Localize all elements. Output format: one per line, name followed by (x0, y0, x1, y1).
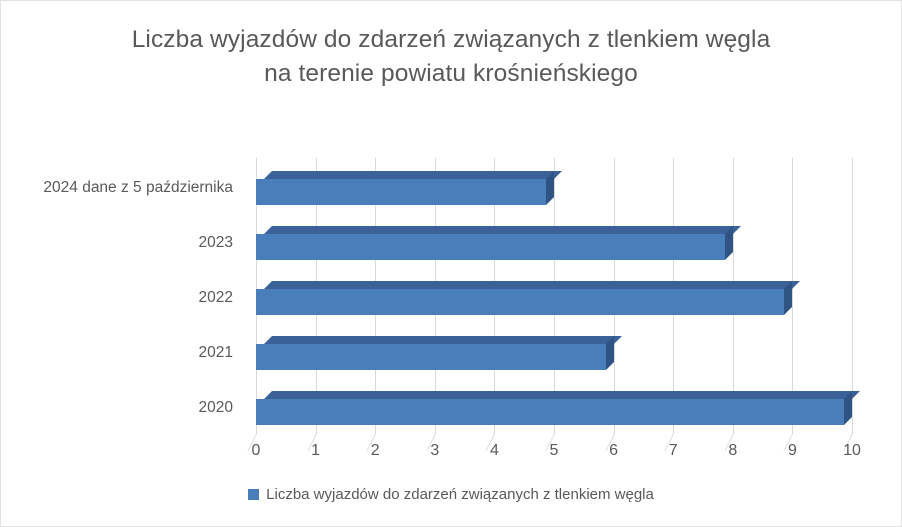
x-axis-tick-label-1: 1 (311, 442, 320, 460)
chart-legend: Liczba wyjazdów do zdarzeń związanych z … (1, 486, 901, 503)
bar-top-face (264, 281, 800, 289)
x-axis-tick-label-0: 0 (252, 442, 261, 460)
bar-side-face (784, 281, 792, 315)
bar-side-face (606, 336, 614, 370)
y-axis-label-2024: 2024 dane z 5 października (43, 179, 233, 197)
legend-entry-label: Liczba wyjazdów do zdarzeń związanych z … (266, 486, 654, 503)
y-axis-category-labels: 20202021202220232024 dane z 5 październi… (1, 158, 241, 434)
x-axis-tick-label-2: 2 (371, 442, 380, 460)
x-axis-tick-label-7: 7 (669, 442, 678, 460)
bar-top-face (264, 171, 562, 179)
bar-2021[interactable] (256, 336, 614, 370)
x-axis-tick-label-5: 5 (550, 442, 559, 460)
x-axis-tick-label-8: 8 (728, 442, 737, 460)
y-axis-label-2022: 2022 (199, 289, 233, 307)
chart-title-line-1: Liczba wyjazdów do zdarzeń związanych z … (1, 23, 901, 57)
bar-2020[interactable] (256, 391, 852, 425)
chart-container: Liczba wyjazdów do zdarzeń związanych z … (0, 0, 902, 527)
x-axis-tick-label-10: 10 (843, 442, 861, 460)
x-axis-tick-label-6: 6 (609, 442, 618, 460)
plot-area (256, 158, 852, 434)
chart-title-line-2: na terenie powiatu krośnieńskiego (1, 57, 901, 91)
bar-2022[interactable] (256, 281, 792, 315)
x-axis-value-labels: 012345678910 (256, 442, 852, 466)
y-axis-label-2023: 2023 (199, 234, 233, 252)
bar-2023[interactable] (256, 226, 733, 260)
bar-2024[interactable] (256, 171, 554, 205)
y-axis-label-2020: 2020 (199, 399, 233, 417)
bar-front-face (256, 234, 725, 260)
bar-front-face (256, 344, 606, 370)
bar-top-face (264, 226, 741, 234)
x-axis-tick-label-9: 9 (788, 442, 797, 460)
bar-front-face (256, 179, 546, 205)
chart-title: Liczba wyjazdów do zdarzeń związanych z … (1, 23, 901, 91)
bar-front-face (256, 289, 784, 315)
legend-color-swatch-icon (248, 489, 259, 500)
bar-front-face (256, 399, 844, 425)
x-axis-tick-label-3: 3 (430, 442, 439, 460)
bar-top-face (264, 336, 622, 344)
bar-top-face (264, 391, 860, 399)
y-axis-label-2021: 2021 (199, 344, 233, 362)
bar-side-face (844, 391, 852, 425)
x-axis-tick-label-4: 4 (490, 442, 499, 460)
